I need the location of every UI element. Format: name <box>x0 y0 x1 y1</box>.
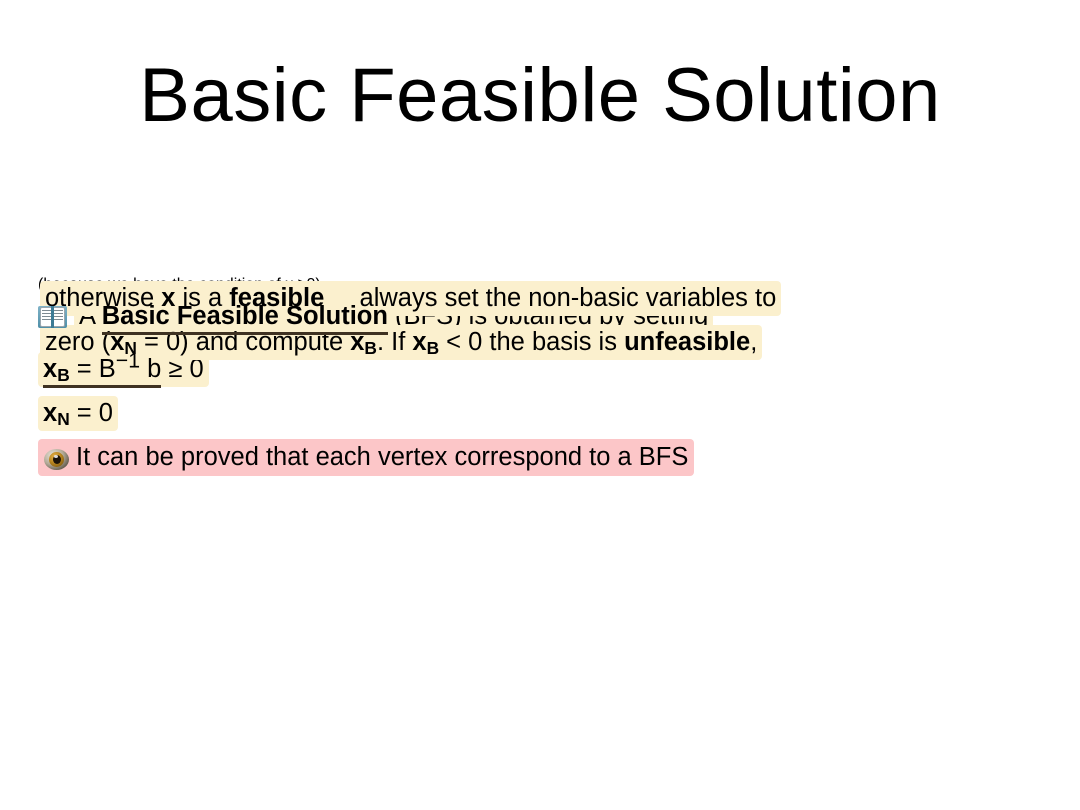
page-title: Basic Feasible Solution <box>0 58 1080 134</box>
formula-equals-zero: = 0 <box>70 399 113 427</box>
formula-xb-underlined: xB = B−1 b <box>43 355 161 383</box>
eye-icon <box>44 449 69 470</box>
book-icon <box>38 305 67 329</box>
bullet-item-vertex-bfs: It can be proved that each vertex corres… <box>38 435 1048 479</box>
bold-underlined-basic-feasible-solution: Basic Feasible Solution <box>102 302 388 330</box>
formula-vector-b: b <box>140 355 161 383</box>
text-zero-open: zero ( <box>45 328 110 356</box>
formula-equals: = <box>70 355 99 383</box>
paragraph-3-text: It can be proved that each vertex corres… <box>76 443 688 471</box>
text-comma: , <box>750 328 757 356</box>
slide-body: Given a basis, we can always set the non… <box>38 276 1048 479</box>
text-basis-is: < 0 the basis is <box>439 328 624 356</box>
formula-variable-x-sub-b: xB <box>43 355 70 383</box>
variable-x-sub-b-2: xB <box>412 328 439 356</box>
formula-xn: xN = 0 <box>38 391 1048 435</box>
bold-unfeasible: unfeasible <box>624 328 750 356</box>
formula-variable-x-sub-n: xN <box>43 399 70 427</box>
formula-matrix-b: B−1 <box>99 355 140 383</box>
